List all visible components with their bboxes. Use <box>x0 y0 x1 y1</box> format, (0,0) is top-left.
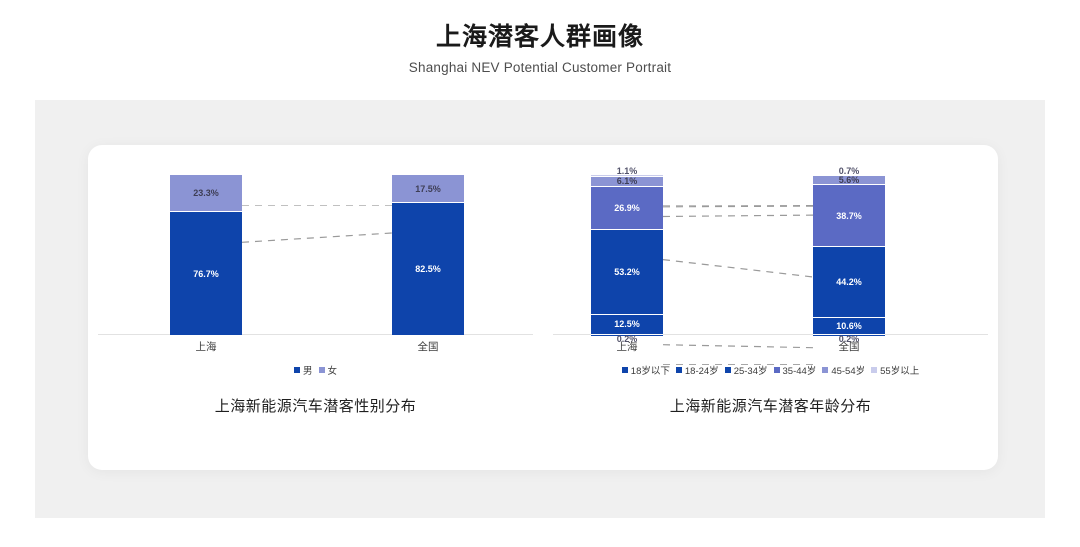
chart-gender-legend-label-male: 男 <box>303 363 313 377</box>
chart-gender-distribution: 23.3% 76.7% 17.5% 82.5% <box>88 145 543 470</box>
charts-card: 23.3% 76.7% 17.5% 82.5% <box>88 145 998 470</box>
chart-age-xtick-national: 全国 <box>794 339 904 354</box>
chart-age-label-55plus-shanghai: 1.1% <box>617 166 638 176</box>
chart-age-plot: 1.1% 6.1% 26.9% 53.2% 12.5% <box>543 175 998 335</box>
chart-age-label-35-44-national: 38.7% <box>836 211 862 221</box>
chart-age-legend-item-55plus[interactable]: 55岁以上 <box>871 363 919 377</box>
chart-age-legend-label-under18: 18岁以下 <box>631 363 670 377</box>
chart-gender-label-female-national: 17.5% <box>415 184 441 194</box>
chart-age-segment-35-44-national: 38.7% <box>813 185 885 247</box>
chart-gender-label-male-shanghai: 76.7% <box>193 269 219 279</box>
chart-age-segment-35-44-shanghai: 26.9% <box>591 187 663 230</box>
page-subtitle: Shanghai NEV Potential Customer Portrait <box>0 59 1080 76</box>
page-title: 上海潜客人群画像 <box>0 22 1080 52</box>
chart-age-distribution: 1.1% 6.1% 26.9% 53.2% 12.5% <box>543 145 998 470</box>
chart-gender-legend-item-male[interactable]: 男 <box>294 363 313 377</box>
chart-age-segment-45-54-shanghai: 6.1% <box>591 177 663 187</box>
chart-gender-segment-female-national: 17.5% <box>392 175 464 203</box>
chart-age-legend-item-25-34[interactable]: 25-34岁 <box>725 363 768 377</box>
chart-age-legend-label-45-54: 45-54岁 <box>831 363 865 377</box>
chart-gender-bar-national: 17.5% 82.5% <box>392 175 464 335</box>
chart-gender-bar-shanghai: 23.3% 76.7% <box>170 175 242 335</box>
chart-age-legend-item-35-44[interactable]: 35-44岁 <box>774 363 817 377</box>
content-panel: 23.3% 76.7% 17.5% 82.5% <box>35 100 1045 518</box>
chart-age-segment-18-24-national: 10.6% <box>813 318 885 335</box>
chart-age-legend-item-18-24[interactable]: 18-24岁 <box>676 363 719 377</box>
square-icon <box>774 367 780 373</box>
chart-age-segment-18-24-shanghai: 12.5% <box>591 315 663 335</box>
chart-age-segment-25-34-shanghai: 53.2% <box>591 230 663 315</box>
chart-age-label-45-54-national: 5.6% <box>839 175 860 185</box>
chart-gender-segment-male-shanghai: 76.7% <box>170 212 242 335</box>
chart-gender-segment-male-national: 82.5% <box>392 203 464 335</box>
chart-age-bar-national: 0.7% 5.6% 38.7% 44.2% 10.6% <box>813 175 885 335</box>
chart-age-label-25-34-national: 44.2% <box>836 277 862 287</box>
chart-gender-axis-line <box>98 334 533 335</box>
chart-age-legend-item-45-54[interactable]: 45-54岁 <box>822 363 865 377</box>
chart-age-legend-item-under18[interactable]: 18岁以下 <box>622 363 670 377</box>
chart-age-segment-45-54-national: 5.6% <box>813 176 885 185</box>
chart-age-caption: 上海新能源汽车潜客年龄分布 <box>543 395 998 416</box>
square-icon <box>622 367 628 373</box>
chart-age-label-18-24-shanghai: 12.5% <box>614 319 640 329</box>
chart-age-legend-label-18-24: 18-24岁 <box>685 363 719 377</box>
chart-gender-legend-label-female: 女 <box>328 363 338 377</box>
chart-gender-plot: 23.3% 76.7% 17.5% 82.5% <box>88 175 543 335</box>
page-root: 上海潜客人群画像 Shanghai NEV Potential Customer… <box>0 0 1080 547</box>
chart-age-legend-label-35-44: 35-44岁 <box>783 363 817 377</box>
chart-gender-label-female-shanghai: 23.3% <box>193 188 219 198</box>
square-icon <box>822 367 828 373</box>
chart-age-legend-label-25-34: 25-34岁 <box>734 363 768 377</box>
square-icon <box>871 367 877 373</box>
chart-gender-xtick-national: 全国 <box>373 339 483 354</box>
chart-age-label-45-54-shanghai: 6.1% <box>617 176 638 186</box>
chart-gender-segment-female-shanghai: 23.3% <box>170 175 242 212</box>
chart-age-legend: 18岁以下 18-24岁 25-34岁 35-44岁 <box>543 363 998 377</box>
square-icon <box>725 367 731 373</box>
chart-gender-legend-item-female[interactable]: 女 <box>319 363 338 377</box>
chart-age-xtick-shanghai: 上海 <box>572 339 682 354</box>
chart-age-label-35-44-shanghai: 26.9% <box>614 203 640 213</box>
chart-age-legend-label-55plus: 55岁以上 <box>880 363 919 377</box>
chart-gender-xticks: 上海 全国 <box>88 339 543 355</box>
chart-age-bar-shanghai: 1.1% 6.1% 26.9% 53.2% 12.5% <box>591 175 663 335</box>
square-icon <box>676 367 682 373</box>
chart-gender-legend: 男 女 <box>88 363 543 377</box>
chart-gender-caption: 上海新能源汽车潜客性别分布 <box>88 395 543 416</box>
chart-age-segment-25-34-national: 44.2% <box>813 247 885 318</box>
chart-gender-xtick-shanghai: 上海 <box>151 339 261 354</box>
square-icon <box>319 367 325 373</box>
page-header: 上海潜客人群画像 Shanghai NEV Potential Customer… <box>0 22 1080 76</box>
square-icon <box>294 367 300 373</box>
chart-age-label-25-34-shanghai: 53.2% <box>614 267 640 277</box>
chart-age-label-18-24-national: 10.6% <box>836 321 862 331</box>
chart-age-xticks: 上海 全国 <box>543 339 998 355</box>
chart-gender-label-male-national: 82.5% <box>415 264 441 274</box>
